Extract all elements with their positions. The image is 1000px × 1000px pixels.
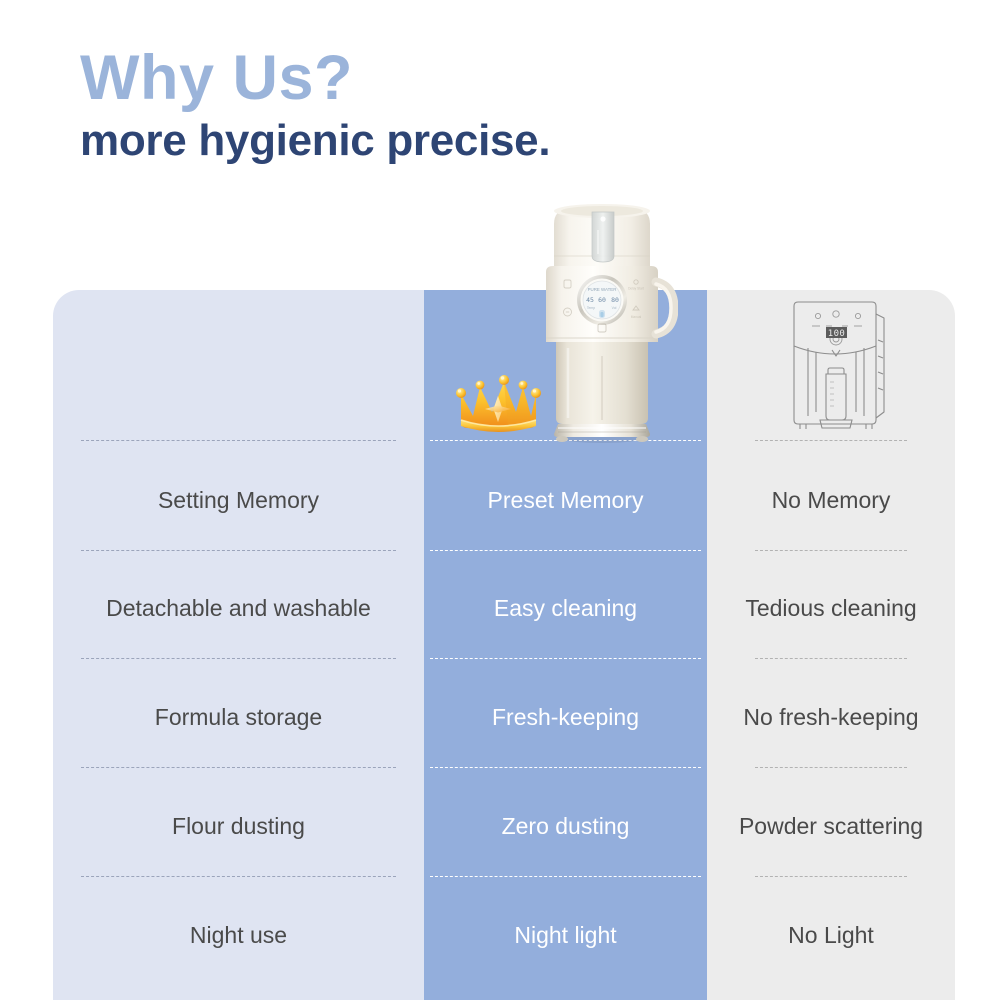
cell-right-4: No Light [707,924,955,947]
cell-left-3: Flour dusting [53,815,424,838]
cell-right-2: No fresh-keeping [707,706,955,729]
cell-right-3: Powder scattering [707,815,955,838]
crown-icon [452,362,544,442]
competitor-display-value: 100 [828,329,845,339]
svg-text:80: 80 [611,296,619,304]
row-divider [430,876,701,877]
comparison-infographic: Why Us? more hygienic precise. Setting M… [0,0,1000,1000]
row-divider [81,658,396,659]
cell-middle-1: Easy cleaning [424,597,707,620]
row-divider [430,658,701,659]
cell-right-1: Tedious cleaning [707,597,955,620]
cell-left-4: Night use [53,924,424,947]
cell-middle-2: Fresh-keeping [424,706,707,729]
row-divider [81,440,396,441]
svg-text:Manual: Manual [631,315,642,319]
cell-middle-0: Preset Memory [424,489,707,512]
svg-text:PURE WATER: PURE WATER [588,287,617,292]
svg-text:45: 45 [586,296,594,304]
page-title: Why Us? [80,46,550,110]
cell-left-2: Formula storage [53,706,424,729]
row-divider [755,440,907,441]
row-divider [755,658,907,659]
page-subtitle: more hygienic precise. [80,118,550,164]
cell-middle-3: Zero dusting [424,815,707,838]
svg-text:Vol: Vol [612,306,617,310]
cell-left-0: Setting Memory [53,489,424,512]
svg-text:Delay Start: Delay Start [628,287,644,291]
formula-maker-product-photo: PURE WATER 45 60 80 Temp Vol Delay Start… [528,196,678,446]
row-divider [81,876,396,877]
competitor-line-art-icon: 100 [772,294,900,434]
row-divider [81,767,396,768]
row-divider [755,550,907,551]
column-ours-left: Setting Memory Detachable and washable F… [53,290,424,1000]
row-divider [755,876,907,877]
row-divider [430,767,701,768]
cell-middle-4: Night light [424,924,707,947]
svg-text:60: 60 [598,296,606,304]
cell-left-1: Detachable and washable [53,597,424,620]
row-divider [81,550,396,551]
page-heading: Why Us? more hygienic precise. [80,46,550,164]
svg-text:Temp: Temp [587,306,595,310]
row-divider [430,550,701,551]
row-divider [755,767,907,768]
cell-right-0: No Memory [707,489,955,512]
